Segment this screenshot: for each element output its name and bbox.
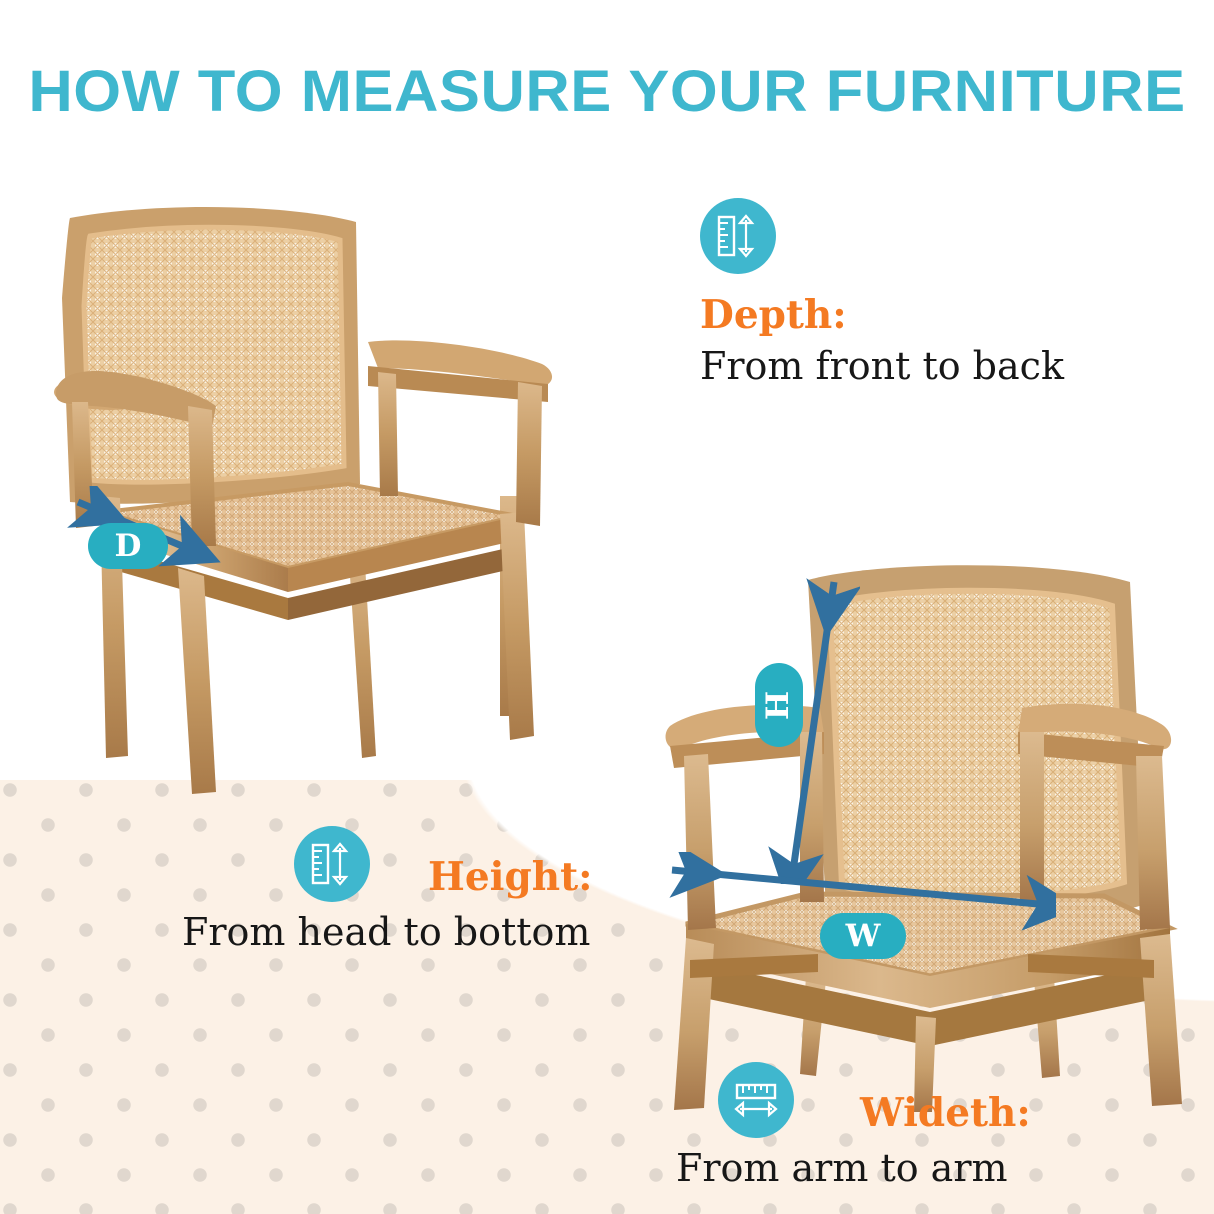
legend-width-description: From arm to arm <box>676 1148 1092 1190</box>
vertical-ruler-icon <box>700 198 776 274</box>
width-badge: W <box>820 913 906 959</box>
height-badge-letter: H <box>763 690 794 719</box>
legend-width: Wideth: From arm to arm <box>672 1062 1092 1190</box>
depth-badge-letter: D <box>115 531 142 562</box>
chair-front-view <box>630 556 1210 1114</box>
legend-depth-description: From front to back <box>700 346 1064 388</box>
vertical-ruler-icon <box>294 826 370 902</box>
legend-height: Height: From head to bottom <box>150 826 610 954</box>
height-badge: H <box>755 663 803 747</box>
horizontal-ruler-icon <box>718 1062 794 1138</box>
page-title: HOW TO MEASURE YOUR FURNITURE <box>0 58 1214 125</box>
depth-badge: D <box>88 523 168 569</box>
legend-depth: Depth: From front to back <box>700 198 1064 388</box>
legend-width-label: Wideth: <box>860 1094 1031 1133</box>
legend-depth-label: Depth: <box>700 296 1064 335</box>
width-badge-letter: W <box>846 921 881 952</box>
legend-height-label: Height: <box>428 858 593 897</box>
infographic-canvas: HOW TO MEASURE YOUR FURNITURE <box>0 0 1214 1214</box>
legend-height-description: From head to bottom <box>182 912 610 954</box>
